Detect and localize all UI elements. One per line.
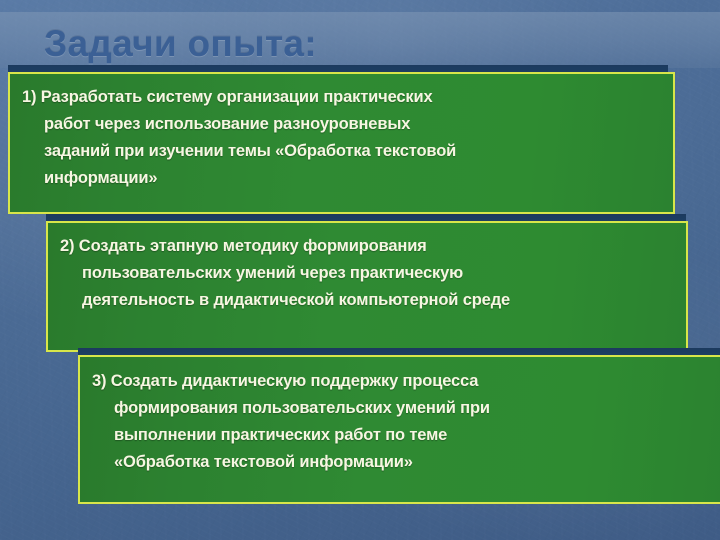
task-box-2[interactable]: 2) Создать этапную методику формирования… (46, 221, 688, 352)
task-line: выполнении практических работ по теме (92, 422, 714, 449)
task-line: 1) Разработать систему организации практ… (22, 84, 661, 111)
task-line: 3) Создать дидактическую поддержку проце… (92, 368, 714, 395)
task-line: работ через использование разноуровневых (22, 111, 661, 138)
task-box-3[interactable]: 3) Создать дидактическую поддержку проце… (78, 355, 720, 504)
task-box-1[interactable]: 1) Разработать систему организации практ… (8, 72, 675, 214)
task-text-1: 1) Разработать систему организации практ… (22, 84, 661, 192)
presentation-slide: Задачи опыта: 1) Разработать систему орг… (0, 0, 720, 540)
page-title: Задачи опыта: (44, 22, 684, 66)
task-text-3: 3) Создать дидактическую поддержку проце… (92, 368, 714, 476)
task-text-2: 2) Создать этапную методику формирования… (60, 233, 674, 314)
task-line: информации» (22, 165, 661, 192)
task-line: пользовательских умений через практическ… (60, 260, 674, 287)
task-line: формирования пользовательских умений при (92, 395, 714, 422)
task-line: деятельность в дидактической компьютерно… (60, 287, 674, 314)
task-line: заданий при изучении темы «Обработка тек… (22, 138, 661, 165)
task-line: 2) Создать этапную методику формирования (60, 233, 674, 260)
task-line: «Обработка текстовой информации» (92, 449, 714, 476)
